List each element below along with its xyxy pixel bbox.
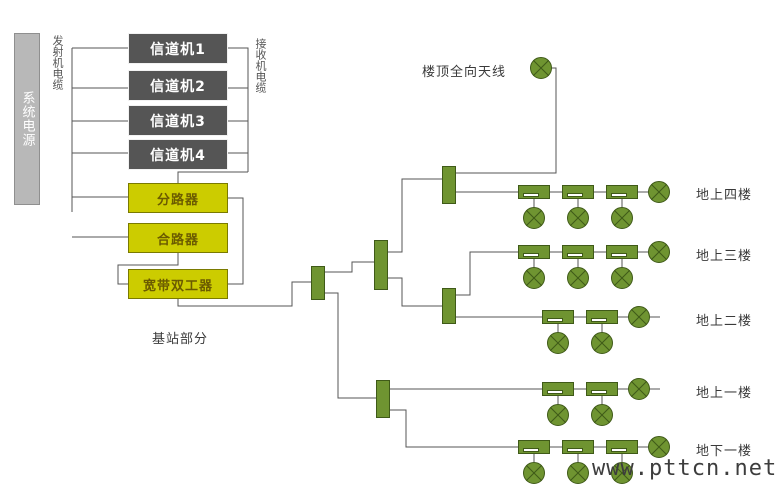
coupler[interactable]	[606, 440, 638, 454]
coupler[interactable]	[562, 245, 594, 259]
coupler-notch	[547, 390, 563, 394]
channel-unit-2-label: 信道机2	[150, 76, 206, 96]
coupler[interactable]	[586, 382, 618, 396]
channel-unit-4[interactable]: 信道机4	[128, 139, 228, 170]
channel-unit-1[interactable]: 信道机1	[128, 33, 228, 64]
device-duplexer[interactable]: 宽带双工器	[128, 269, 228, 299]
channel-unit-4-label: 信道机4	[150, 145, 206, 165]
device-combiner-label: 合路器	[157, 229, 199, 248]
coupler[interactable]	[586, 310, 618, 324]
end-antenna-icon[interactable]	[648, 436, 670, 458]
base-station-section-label: 基站部分	[152, 328, 208, 347]
coupler-notch	[567, 193, 583, 197]
drop-antenna-icon[interactable]	[591, 404, 613, 426]
drop-antenna-icon[interactable]	[523, 207, 545, 229]
coupler[interactable]	[606, 245, 638, 259]
coupler-notch	[523, 448, 539, 452]
receive-cable-label: 接收机电缆	[255, 38, 266, 93]
splitter-main[interactable]	[311, 266, 325, 300]
coupler[interactable]	[542, 382, 574, 396]
splitter-floor4[interactable]	[442, 166, 456, 204]
coupler-notch	[523, 193, 539, 197]
end-antenna-icon[interactable]	[628, 378, 650, 400]
system-power-box: 系统电源	[14, 33, 40, 205]
splitter-lower[interactable]	[376, 380, 390, 418]
channel-unit-3-label: 信道机3	[150, 111, 206, 131]
device-duplexer-label: 宽带双工器	[143, 275, 213, 294]
rooftop-antenna-label: 楼顶全向天线	[422, 61, 506, 80]
drop-antenna-icon[interactable]	[523, 462, 545, 484]
end-antenna-icon[interactable]	[648, 241, 670, 263]
drop-antenna-icon[interactable]	[611, 267, 633, 289]
floor-label-1f: 地上一楼	[696, 382, 752, 401]
transmit-cable-label: 发射机电缆	[52, 35, 63, 90]
floor-label-4f: 地上四楼	[696, 184, 752, 203]
coupler[interactable]	[562, 185, 594, 199]
drop-antenna-icon[interactable]	[523, 267, 545, 289]
drop-antenna-icon[interactable]	[567, 267, 589, 289]
device-splitter[interactable]: 分路器	[128, 183, 228, 213]
coupler-notch	[611, 253, 627, 257]
channel-unit-3[interactable]: 信道机3	[128, 105, 228, 136]
coupler[interactable]	[518, 440, 550, 454]
floor-label-2f: 地上二楼	[696, 310, 752, 329]
end-antenna-icon[interactable]	[628, 306, 650, 328]
drop-antenna-icon[interactable]	[591, 332, 613, 354]
channel-unit-2[interactable]: 信道机2	[128, 70, 228, 101]
drop-antenna-icon[interactable]	[547, 404, 569, 426]
coupler-notch	[567, 253, 583, 257]
floor-label-3f: 地上三楼	[696, 245, 752, 264]
device-splitter-label: 分路器	[157, 189, 199, 208]
coupler[interactable]	[606, 185, 638, 199]
coupler-notch	[547, 318, 563, 322]
drop-antenna-icon[interactable]	[567, 462, 589, 484]
diagram-canvas: 系统电源 发射机电缆 接收机电缆 信道机1 信道机2 信道机3 信道机4 分路器…	[0, 0, 782, 486]
device-combiner[interactable]: 合路器	[128, 223, 228, 253]
system-power-label: 系统电源	[21, 91, 34, 147]
drop-antenna-icon[interactable]	[567, 207, 589, 229]
coupler[interactable]	[562, 440, 594, 454]
drop-antenna-icon[interactable]	[611, 207, 633, 229]
omni-antenna-icon[interactable]	[530, 57, 552, 79]
coupler-notch	[611, 193, 627, 197]
coupler-notch	[611, 448, 627, 452]
transmit-cable-label-wrap: 发射机电缆	[52, 35, 68, 145]
coupler-notch	[567, 448, 583, 452]
splitter-floor2[interactable]	[442, 288, 456, 324]
coupler-notch	[523, 253, 539, 257]
end-antenna-icon[interactable]	[648, 181, 670, 203]
coupler-notch	[591, 390, 607, 394]
coupler[interactable]	[542, 310, 574, 324]
drop-antenna-icon[interactable]	[547, 332, 569, 354]
coupler[interactable]	[518, 185, 550, 199]
receive-cable-label-wrap: 接收机电缆	[255, 38, 271, 148]
site-watermark: www.pttcn.net	[592, 456, 777, 481]
coupler[interactable]	[518, 245, 550, 259]
channel-unit-1-label: 信道机1	[150, 39, 206, 59]
splitter-upper[interactable]	[374, 240, 388, 290]
coupler-notch	[591, 318, 607, 322]
